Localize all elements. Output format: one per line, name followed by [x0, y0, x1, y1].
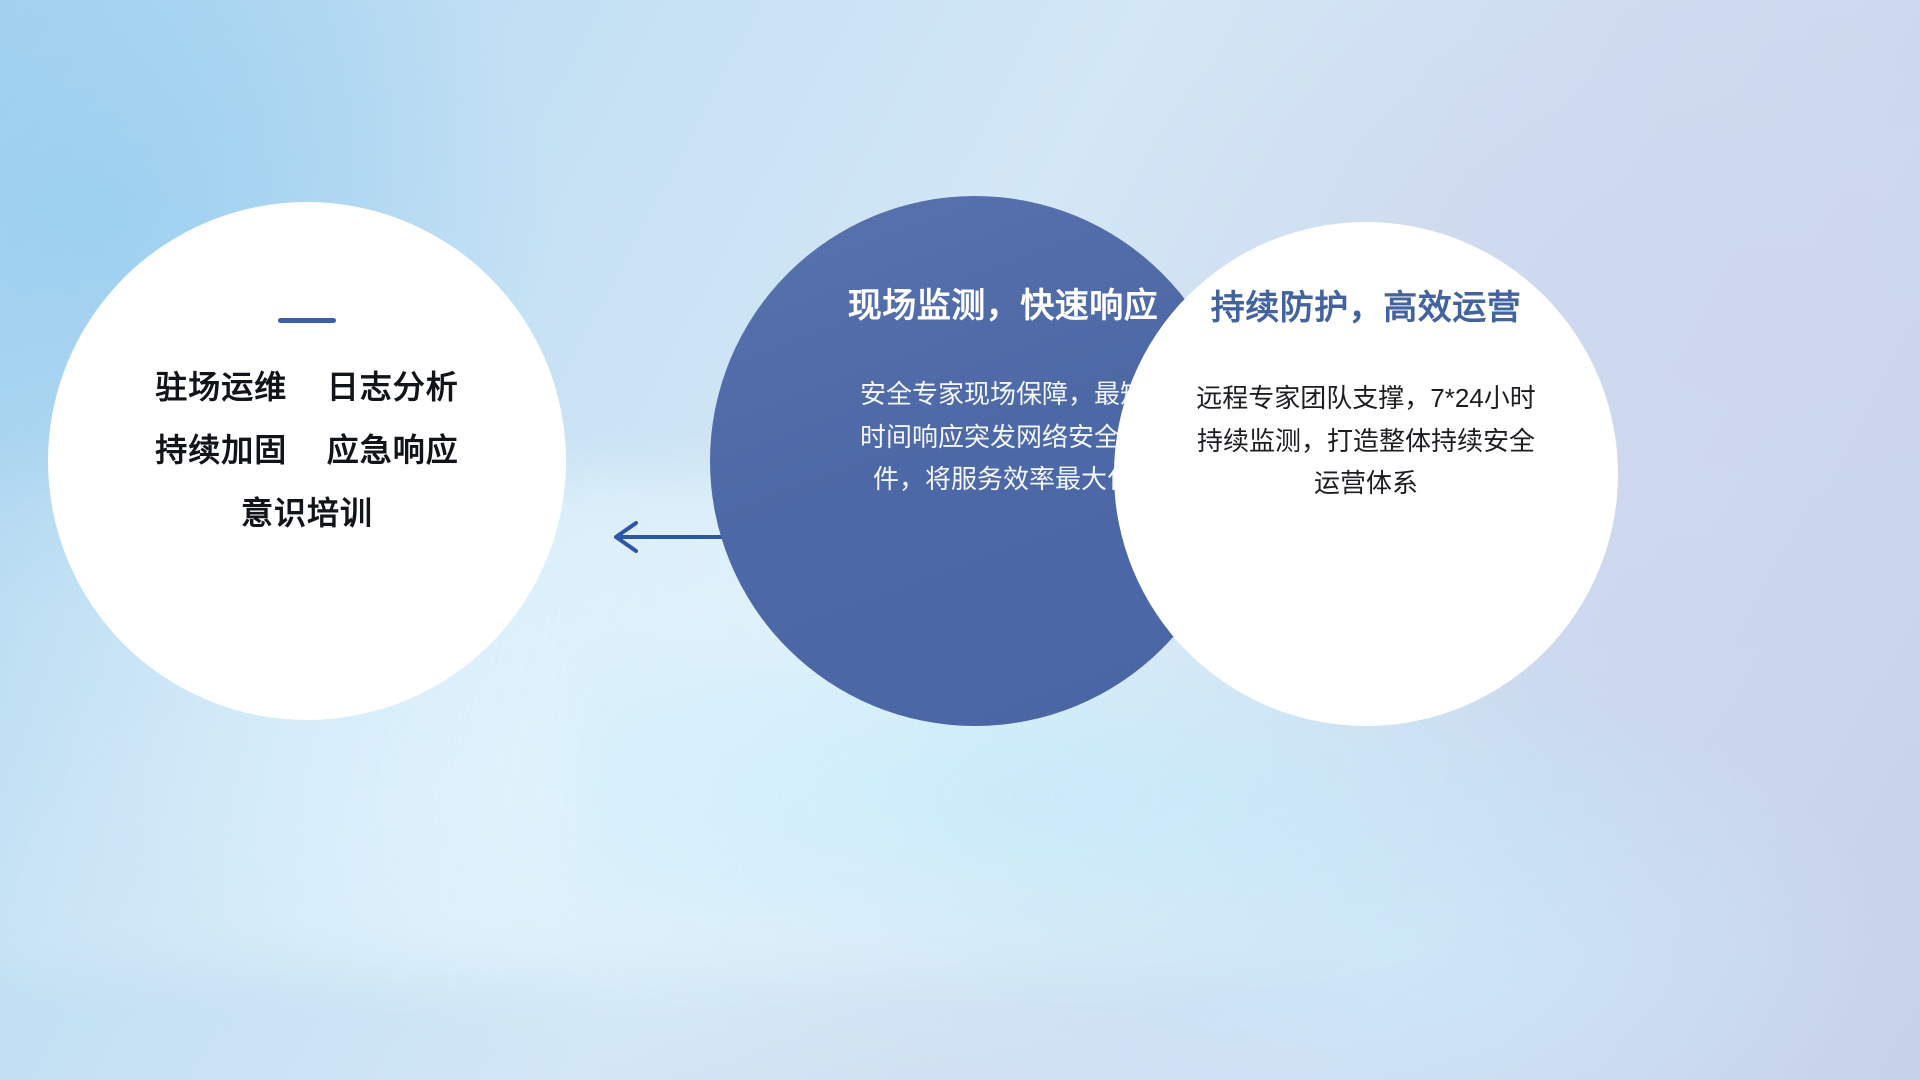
title-divider: [278, 318, 336, 323]
continuous-protection-circle: 持续防护，高效运营 远程专家团队支撑，7*24小时持续监测，打造整体持续安全运营…: [1114, 222, 1618, 726]
continuous-protection-title: 持续防护，高效运营: [1211, 290, 1522, 327]
capability-line-1: 驻场运维 日志分析: [155, 371, 459, 403]
background-glow: [576, 648, 1728, 1015]
capability-line-3: 意识培训: [241, 497, 373, 529]
continuous-protection-body: 远程专家团队支撑，7*24小时持续监测，打造整体持续安全运营体系: [1185, 377, 1547, 503]
slide-canvas: 驻场运维 日志分析 持续加固 应急响应 意识培训 现场监测，快速响应 安全专家现…: [0, 0, 1920, 1080]
onsite-monitoring-body: 安全专家现场保障，最短时间响应突发网络安全事件，将服务效率最大化: [848, 373, 1158, 499]
capability-line-2: 持续加固 应急响应: [155, 434, 459, 466]
capabilities-circle: 驻场运维 日志分析 持续加固 应急响应 意识培训: [48, 202, 566, 720]
onsite-monitoring-title: 现场监测，快速响应: [848, 288, 1159, 325]
